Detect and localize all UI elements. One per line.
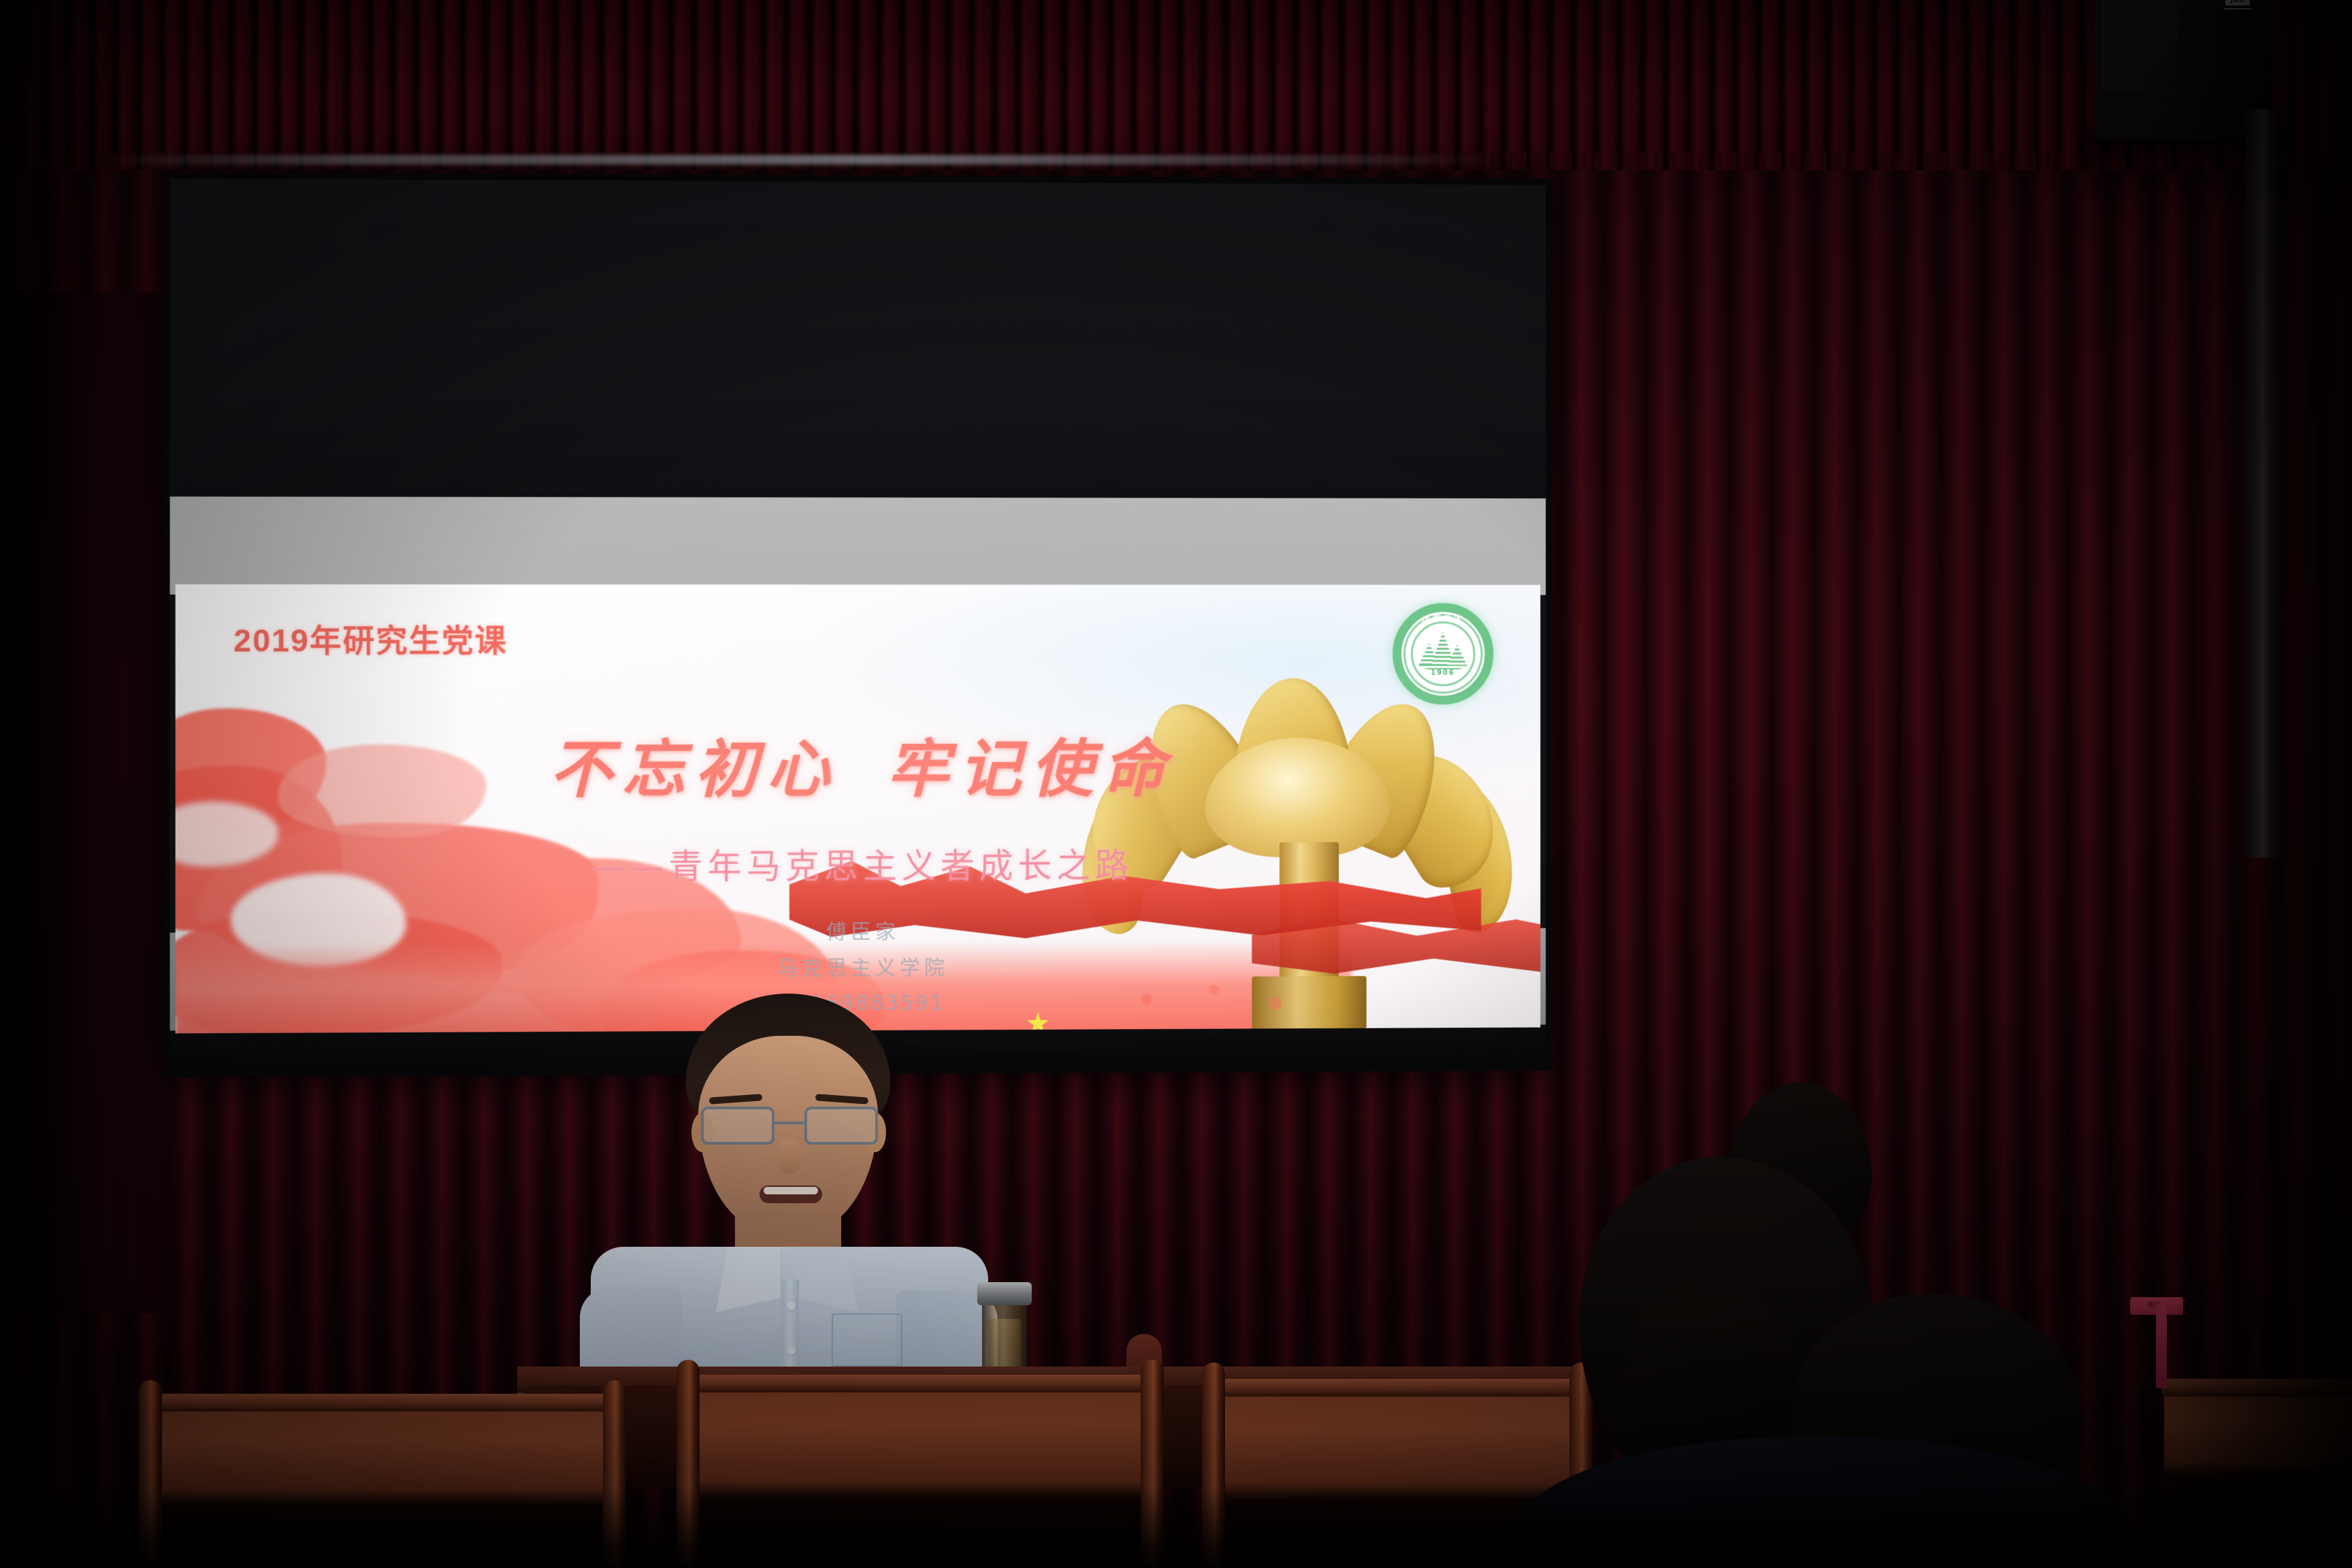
glasses-bridge: [774, 1122, 804, 1124]
ceiling-light-strip: [102, 155, 1497, 165]
bench-seat-back[interactable]: [143, 1405, 619, 1568]
bench-post: [1202, 1362, 1225, 1568]
bench-seat-back[interactable]: [2164, 1391, 2352, 1527]
presenter-org: 马克思主义学院: [176, 948, 1541, 989]
shirt-button: [787, 1346, 796, 1355]
jbl-logo-underline: [2224, 8, 2251, 10]
speaker-nose: [777, 1139, 802, 1175]
tumbler-lid: [977, 1282, 1032, 1305]
main-title-part2: 牢记使命: [887, 732, 1174, 805]
screen-letterbox-top: [170, 496, 1546, 595]
bench-top-rail: [1203, 1379, 1592, 1396]
slide-subtitle: ——青年马克思主义者成长之路: [176, 837, 1541, 889]
shirt-pocket: [832, 1313, 902, 1367]
bench-post: [1141, 1360, 1164, 1568]
projection-screen[interactable]: 山东农业大学 1906 2019年研究生党课 不忘初心牢记使命 ——青年马克: [163, 172, 1552, 1077]
screen-surface: 山东农业大学 1906 2019年研究生党课 不忘初心牢记使命 ——青年马克: [170, 178, 1546, 1071]
seat-number-tag-label: 座位: [2133, 1300, 2176, 1311]
speaker-teeth: [764, 1187, 818, 1194]
seated-speaker: [565, 994, 1014, 1375]
bench-post: [603, 1380, 626, 1568]
presenter-name: 傅臣家: [176, 913, 1541, 953]
shirt-button: [787, 1301, 796, 1310]
bench-post: [139, 1380, 162, 1568]
jbl-speaker: JBL: [2095, 0, 2272, 140]
slide-main-title: 不忘初心牢记使命: [176, 718, 1541, 811]
university-seal-icon: 山东农业大学 1906: [1392, 603, 1493, 704]
glasses-lens-right: [804, 1107, 878, 1145]
valance-curtain-top: [0, 0, 2352, 170]
bench-post: [676, 1360, 700, 1568]
bench-seat-back[interactable]: [681, 1386, 1157, 1568]
bench-top-rail: [140, 1394, 623, 1411]
bench-top-rail: [678, 1375, 1161, 1392]
main-title-part1: 不忘初心: [549, 732, 838, 806]
screen-dark-band: [170, 178, 1546, 502]
lecture-hall-scene: JBL: [0, 0, 2352, 1568]
left-wall-panel: [0, 293, 170, 1313]
speaker-grille-icon: [2103, 0, 2176, 88]
slide-kicker: 2019年研究生党课: [233, 616, 508, 661]
mountain-emblem-icon: [1418, 632, 1469, 666]
seat-number-tag-stem: [2156, 1304, 2167, 1388]
seal-inner-disc: 1906: [1411, 621, 1475, 686]
jbl-logo: JBL: [2225, 0, 2250, 5]
vertical-pipe: [2246, 109, 2281, 857]
seal-founding-year: 1906: [1413, 669, 1473, 676]
presentation-slide[interactable]: 山东农业大学 1906 2019年研究生党课 不忘初心牢记使命 ——青年马克: [176, 585, 1541, 1034]
glasses-lens-left: [701, 1107, 774, 1145]
bench-top-rail: [2161, 1379, 2352, 1396]
